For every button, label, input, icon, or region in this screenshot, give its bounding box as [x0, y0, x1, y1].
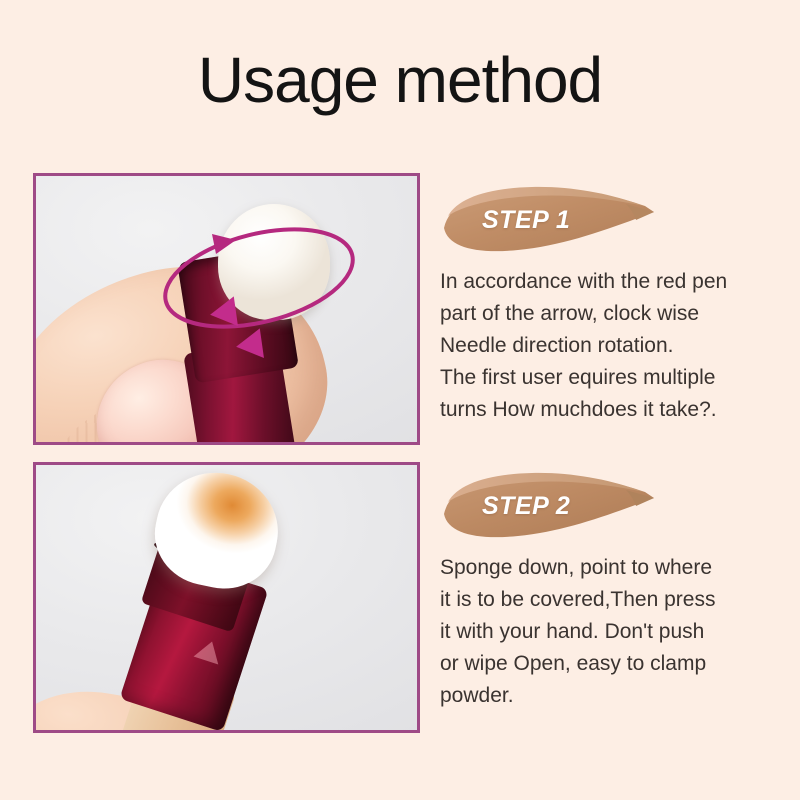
- step-1-block: STEP 1 In accordance with the red pen pa…: [440, 176, 790, 426]
- step-1-swatch: STEP 1: [440, 176, 665, 262]
- direction-triangle-icon: [234, 328, 264, 361]
- direction-triangle-icon: [208, 296, 238, 329]
- step-2-block: STEP 2 Sponge down, point to where it is…: [440, 462, 790, 712]
- rotation-arrow-icon: [154, 222, 364, 334]
- page-title: Usage method: [0, 48, 800, 112]
- photo-step-2-frame: [33, 462, 420, 733]
- usage-method-infographic: { "page": { "title": "Usage method", "ba…: [0, 0, 800, 800]
- step-1-badge-label: STEP 1: [482, 206, 570, 235]
- photo-step-2-backdrop: [36, 465, 417, 730]
- step-2-badge-label: STEP 2: [482, 492, 570, 521]
- step-2-swatch: STEP 2: [440, 462, 665, 548]
- step-1-body-text: In accordance with the red pen part of t…: [440, 266, 790, 426]
- photo-step-1-frame: [33, 173, 420, 445]
- step-2-body-text: Sponge down, point to where it is to be …: [440, 552, 790, 712]
- photo-step-1-backdrop: [36, 176, 417, 442]
